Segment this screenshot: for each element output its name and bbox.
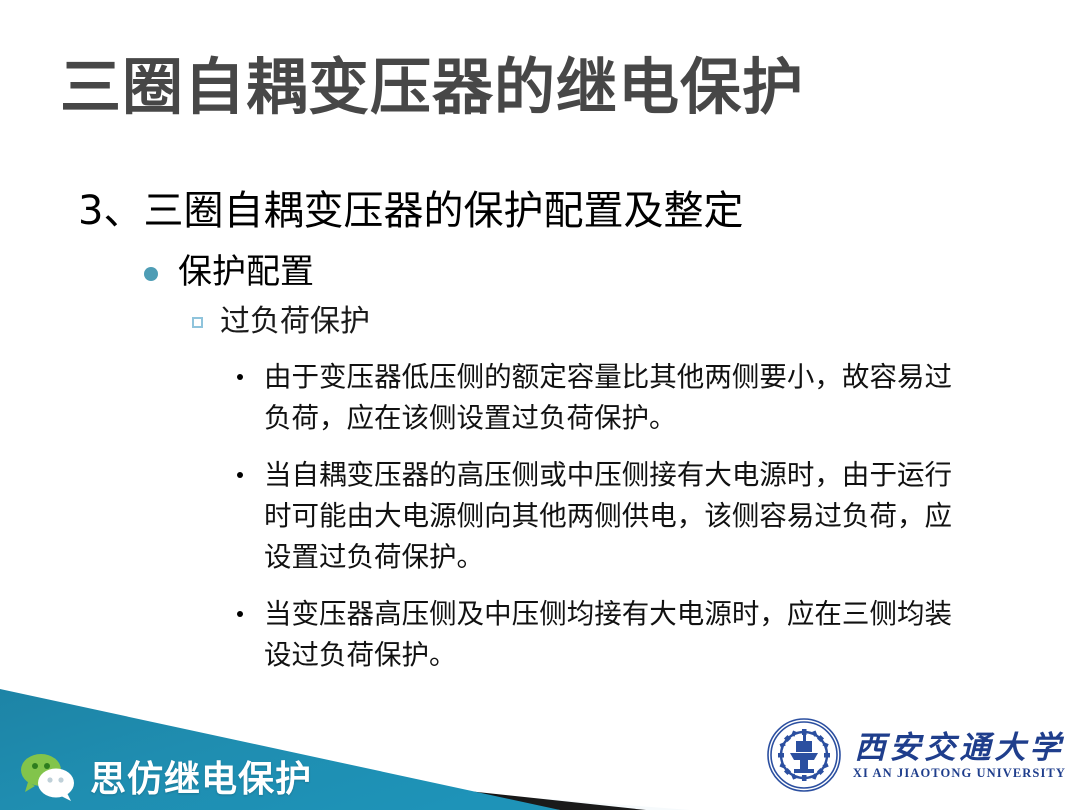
list-item: 当变压器高压侧及中压侧均接有大电源时，应在三侧均装设过负荷保护。: [232, 593, 952, 675]
bullet-dot-icon: [237, 472, 243, 478]
list-item-text: 由于变压器低压侧的额定容量比其他两侧要小，故容易过负荷，应在该侧设置过负荷保护。: [264, 361, 952, 433]
university-wordmark: 西安交通大学 XI AN JIAOTONG UNIVERSITY: [853, 730, 1066, 781]
watermark: 思仿继电保护: [18, 750, 312, 802]
page-title: 三圈自耦变压器的继电保护: [60, 50, 1020, 126]
list-item: 当自耦变压器的高压侧或中压侧接有大电源时，由于运行时可能由大电源侧向其他两侧供电…: [232, 454, 952, 577]
list-item-text: 当自耦变压器的高压侧或中压侧接有大电源时，由于运行时可能由大电源侧向其他两侧供电…: [264, 459, 952, 572]
watermark-text: 思仿继电保护: [90, 750, 312, 802]
outline-level2-item: 保护配置: [142, 250, 1080, 294]
slide-canvas: 三圈自耦变压器的继电保护 3、三圈自耦变压器的保护配置及整定 保护配置 过负荷保…: [0, 0, 1080, 810]
outline-level3-item: 过负荷保护: [190, 302, 1080, 342]
bullet-square-icon: [192, 317, 203, 328]
university-name-en: XI AN JIAOTONG UNIVERSITY: [853, 766, 1066, 781]
list-item: 由于变压器低压侧的额定容量比其他两侧要小，故容易过负荷，应在该侧设置过负荷保护。: [232, 356, 952, 438]
outline-level2-label: 保护配置: [178, 252, 314, 292]
list-item-text: 当变压器高压侧及中压侧均接有大电源时，应在三侧均装设过负荷保护。: [264, 598, 952, 670]
outline-level3-label: 过负荷保护: [220, 305, 370, 338]
bullet-dot-icon: [237, 374, 243, 380]
bullet-circle-icon: [144, 267, 158, 281]
slide-body: 3、三圈自耦变压器的保护配置及整定 保护配置 过负荷保护 由于变压器低压侧的额定…: [0, 186, 1080, 691]
university-logo: 西安交通大学 XI AN JIAOTONG UNIVERSITY: [763, 714, 1066, 796]
university-name-cn: 西安交通大学: [854, 730, 1064, 766]
wechat-icon: [18, 750, 80, 802]
xjtu-seal-icon: [763, 714, 845, 796]
outline-level1-heading: 3、三圈自耦变压器的保护配置及整定: [78, 186, 1080, 236]
bullet-dot-icon: [237, 611, 243, 617]
outline-level4-list: 由于变压器低压侧的额定容量比其他两侧要小，故容易过负荷，应在该侧设置过负荷保护。…: [232, 356, 952, 675]
